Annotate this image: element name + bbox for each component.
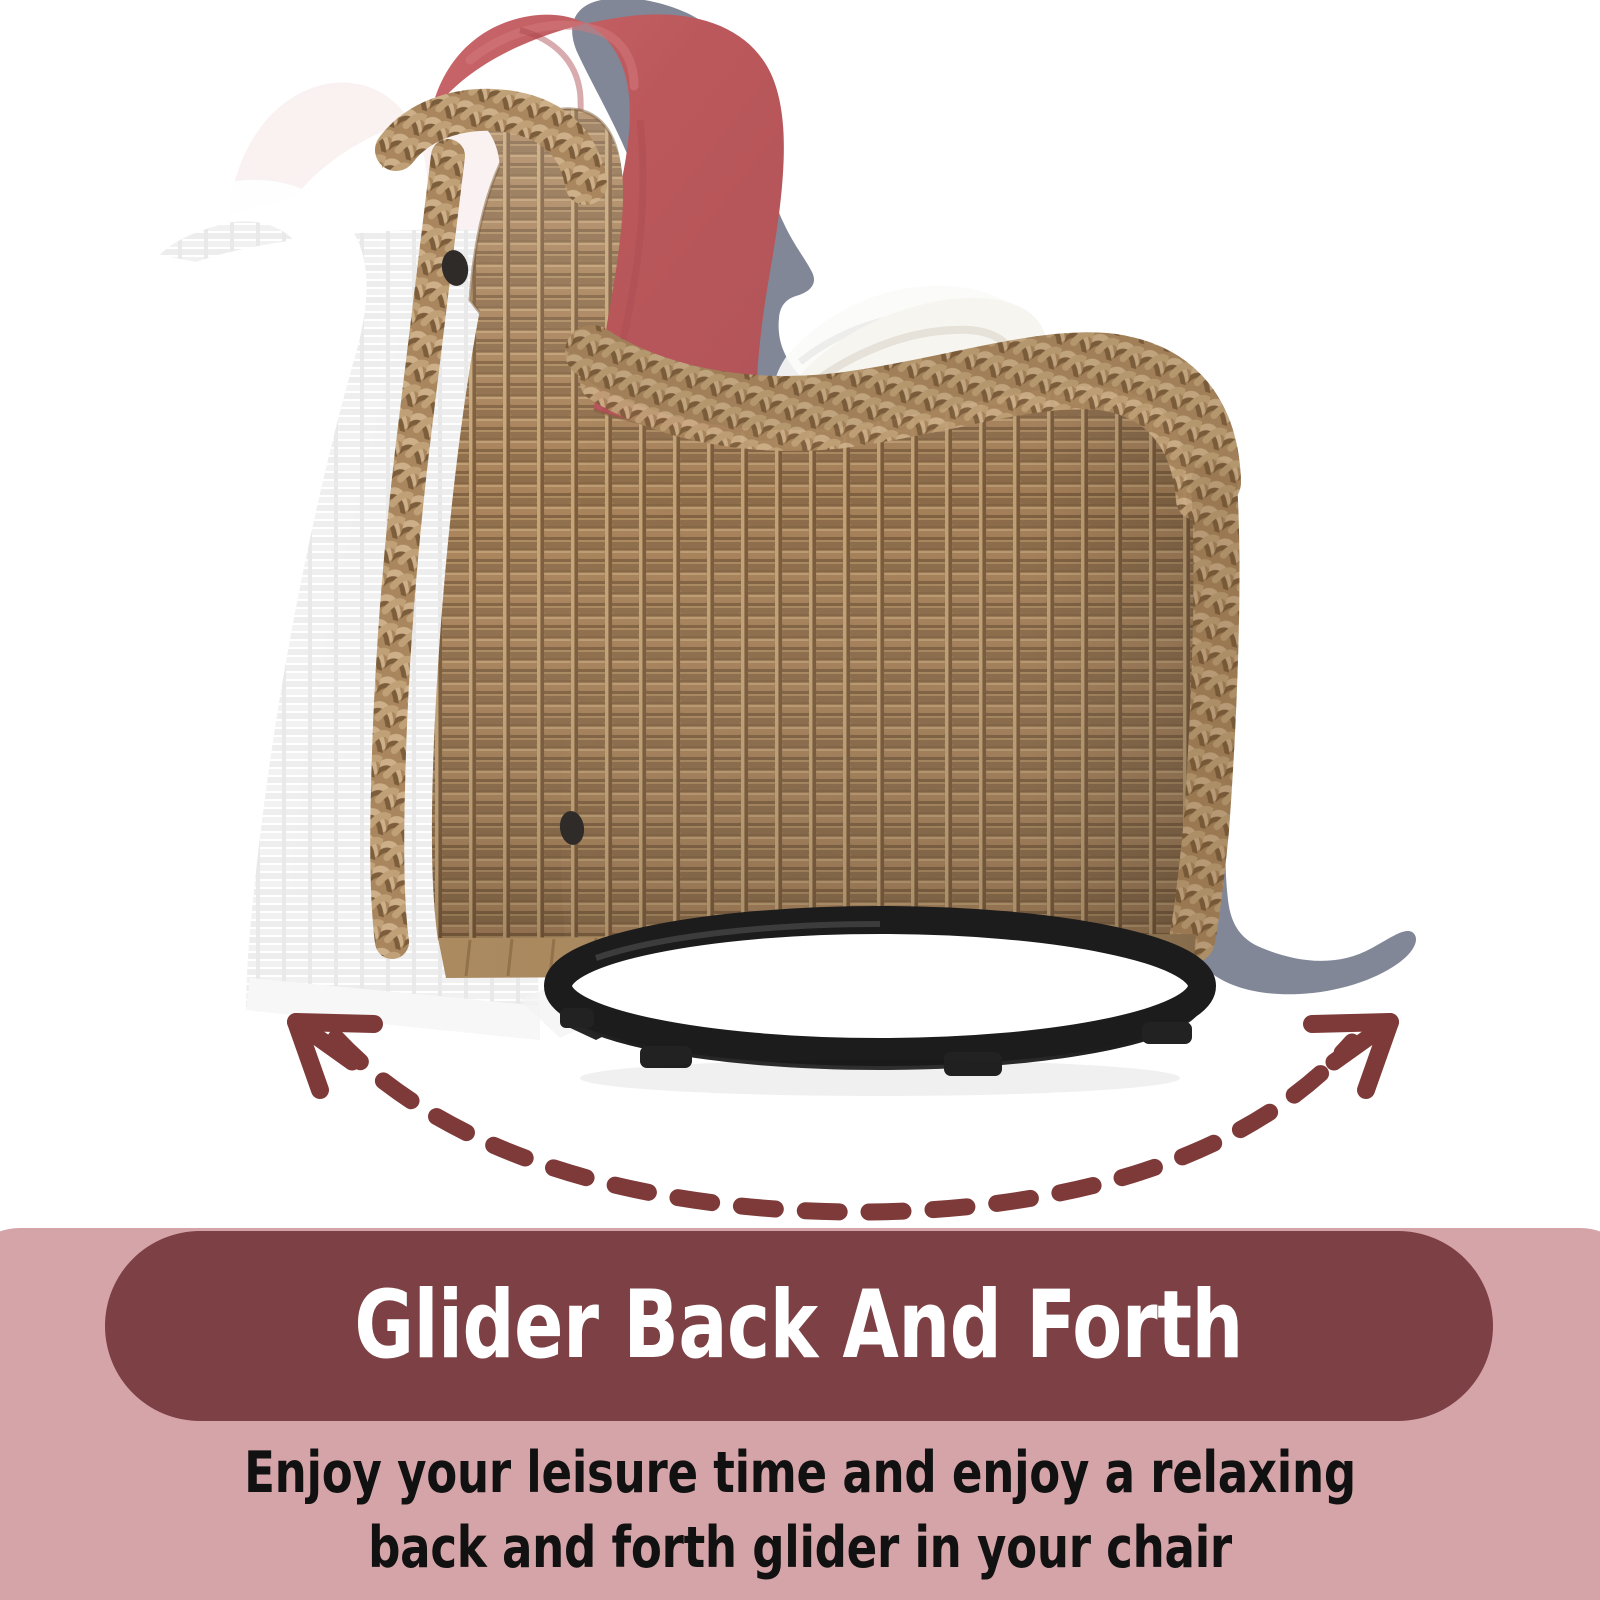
title-pill: Glider Back And Forth [105, 1231, 1493, 1421]
caption-subtitle: Enjoy your leisure time and enjoy a rela… [0, 1436, 1600, 1586]
subtitle-line-2: back and forth glider in your chair [96, 1511, 1504, 1586]
infographic-canvas: Glider Back And Forth Enjoy your leisure… [0, 0, 1600, 1600]
subtitle-line-1: Enjoy your leisure time and enjoy a rela… [96, 1436, 1504, 1511]
back-and-forth-dashed-arc [0, 0, 1600, 1230]
caption-block: Glider Back And Forth Enjoy your leisure… [0, 1228, 1600, 1600]
page-title: Glider Back And Forth [355, 1279, 1244, 1373]
product-photo [0, 0, 1600, 1230]
